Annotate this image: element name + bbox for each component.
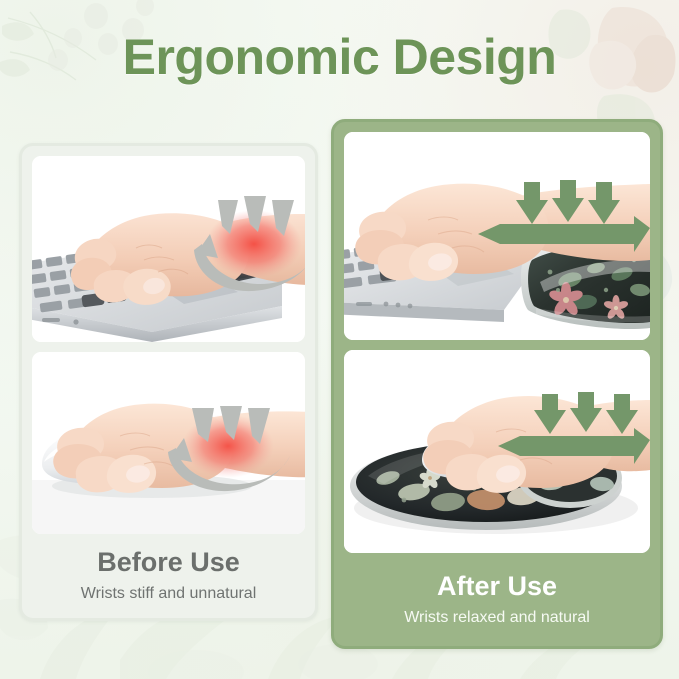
before-use-caption: Before Use Wrists stiff and unnatural [19, 548, 318, 604]
after-use-title: After Use [331, 572, 663, 602]
after-use-caption: After Use Wrists relaxed and natural [331, 572, 663, 628]
photo-hand-typing-laptop-no-rest [32, 156, 305, 342]
mouse-pad-wrist-rest-illustration [344, 350, 650, 553]
photo-hand-typing-with-wrist-rest [344, 132, 650, 340]
pressure-arrows [218, 196, 294, 236]
photo-hand-on-mouse-pad-wrist-rest [344, 350, 650, 553]
hand-on-mouse-illustration [32, 352, 305, 534]
before-use-title: Before Use [19, 548, 318, 578]
hand-typing-laptop-illustration [32, 156, 305, 342]
page-title: Ergonomic Design [0, 28, 679, 86]
infographic-canvas: Ergonomic Design [0, 0, 679, 679]
after-use-subtitle: Wrists relaxed and natural [331, 607, 663, 629]
support-arrows [534, 392, 638, 434]
hand-typing-wrist-rest-illustration [344, 132, 650, 340]
photo-hand-on-mouse-no-pad [32, 352, 305, 534]
before-use-subtitle: Wrists stiff and unnatural [19, 583, 318, 605]
support-arrows [516, 180, 620, 224]
